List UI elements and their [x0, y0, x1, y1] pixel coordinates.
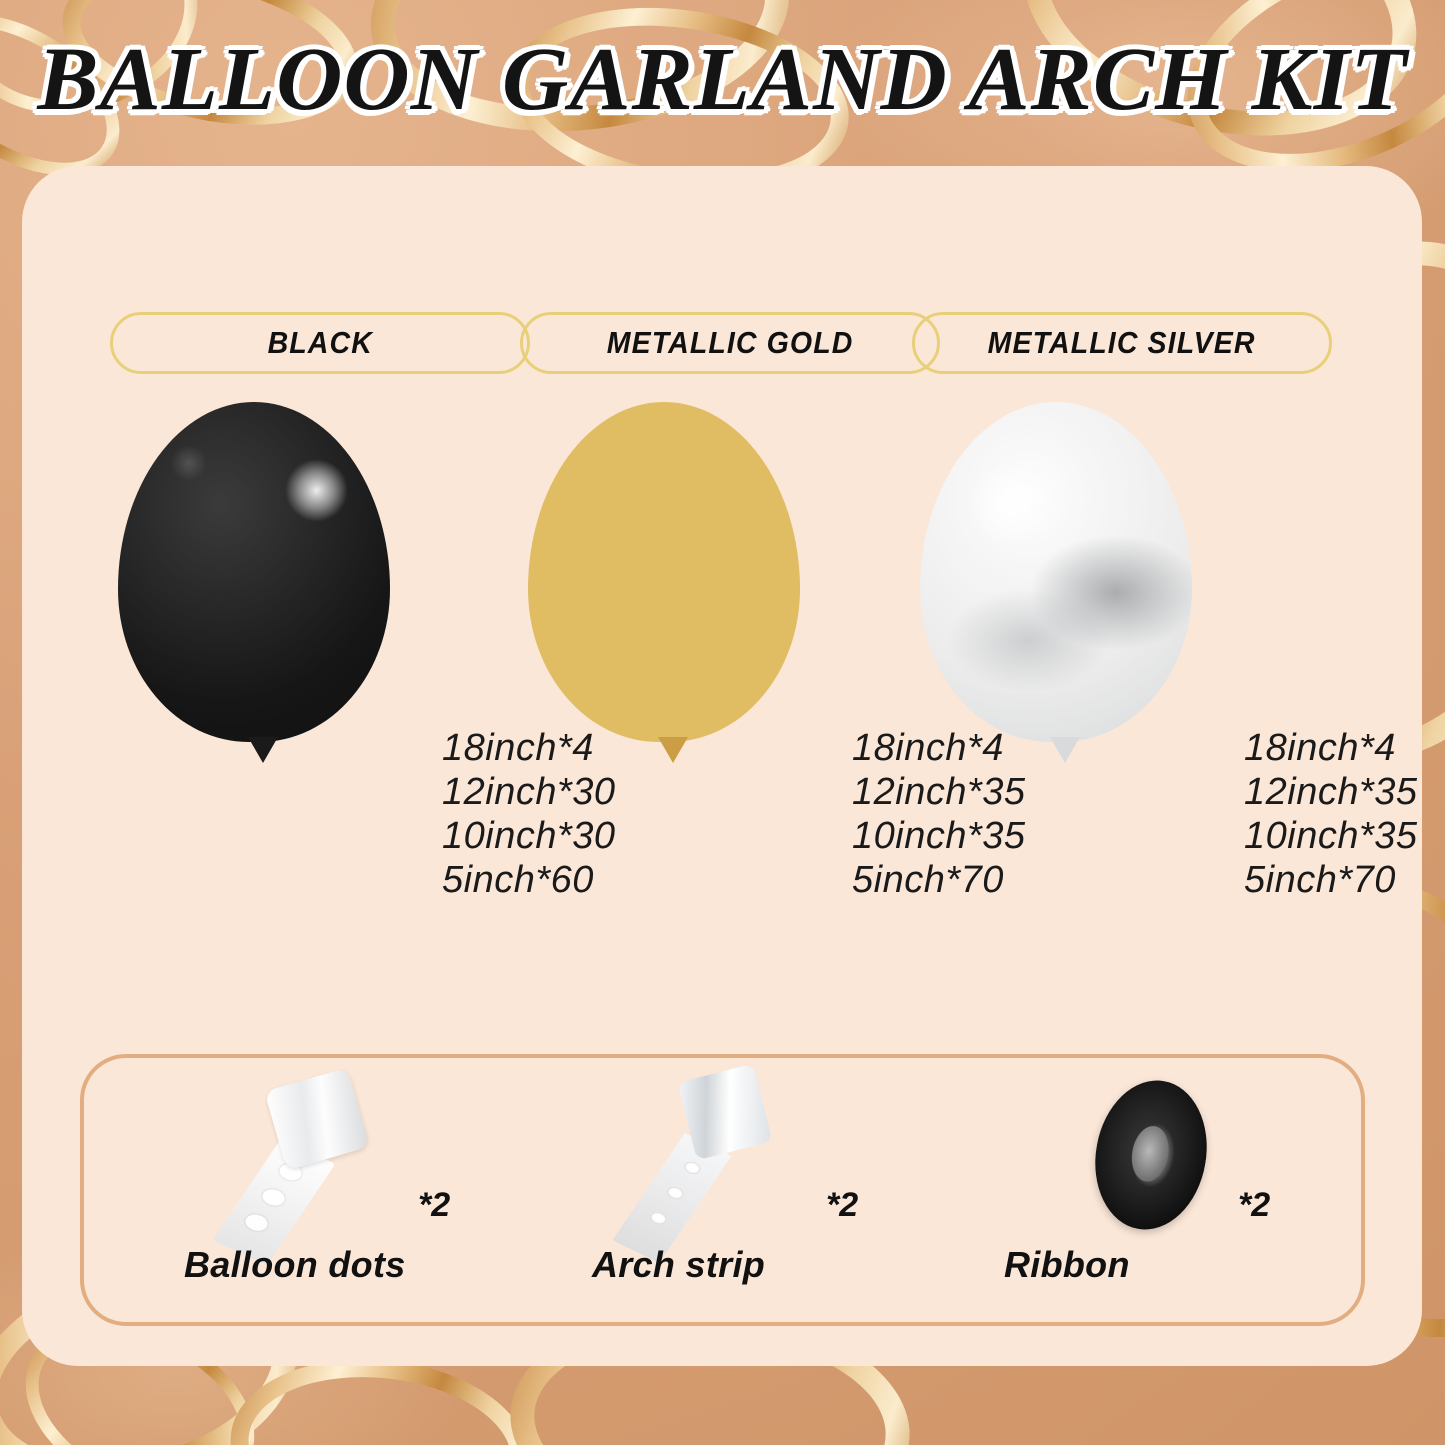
- color-column-metallic-silver: METALLIC SILVER 18inch*4 12inch*35 10inc…: [912, 166, 1332, 1066]
- color-column-metallic-gold: METALLIC GOLD 18inch*4 12inch*35 10inch*…: [520, 166, 940, 1066]
- accessory-label: Arch strip: [592, 1244, 932, 1286]
- ribbon-spool-body: [1084, 1072, 1218, 1239]
- color-label-black-text: BLACK: [267, 325, 372, 361]
- accessory-qty: *2: [1238, 1186, 1270, 1225]
- color-columns: BLACK 18inch*4 12inch*30 10inch*30 5inch…: [22, 166, 1422, 1066]
- arch-tape-strip-icon: [644, 1072, 824, 1247]
- balloon-black-knot: [248, 737, 278, 763]
- accessory-label: Balloon dots: [184, 1244, 524, 1286]
- accessory-arch-strip: *2 Arch strip: [584, 1058, 1004, 1330]
- quantity-item: 18inch*4: [1244, 726, 1418, 770]
- product-infographic: BALLOON GARLAND ARCH KIT BLACK 18inch*4 …: [0, 0, 1445, 1445]
- quantity-list-metallic-silver: 18inch*4 12inch*35 10inch*35 5inch*70: [1244, 726, 1418, 902]
- color-label-metallic-gold[interactable]: METALLIC GOLD: [520, 312, 940, 374]
- accessory-balloon-dots: *2 Balloon dots: [176, 1058, 596, 1330]
- glue-dots-roll-icon: [236, 1072, 416, 1247]
- accessory-ribbon: *2 Ribbon: [996, 1058, 1416, 1330]
- balloon-metallic-silver-knot: [1050, 737, 1080, 763]
- color-column-black: BLACK 18inch*4 12inch*30 10inch*30 5inch…: [110, 166, 530, 1066]
- balloon-metallic-silver-body: [920, 402, 1192, 742]
- color-label-metallic-silver[interactable]: METALLIC SILVER: [912, 312, 1332, 374]
- balloon-metallic-gold-knot: [658, 737, 688, 763]
- quantity-item: 5inch*70: [1244, 858, 1418, 902]
- ribbon-spool-icon: [1056, 1072, 1236, 1247]
- accessory-qty: *2: [418, 1186, 450, 1225]
- accessory-label: Ribbon: [1004, 1244, 1344, 1286]
- quantity-item: 10inch*35: [1244, 814, 1418, 858]
- color-label-black[interactable]: BLACK: [110, 312, 530, 374]
- accessories-box: *2 Balloon dots *2 Arch strip: [80, 1054, 1365, 1326]
- balloon-metallic-gold-body: [528, 402, 800, 742]
- color-label-metallic-silver-text: METALLIC SILVER: [988, 325, 1256, 361]
- balloon-black-body: [118, 402, 390, 742]
- ribbon-spool-core: [1128, 1123, 1173, 1184]
- accessory-qty: *2: [826, 1186, 858, 1225]
- balloon-metallic-gold: [528, 402, 818, 792]
- main-card: BLACK 18inch*4 12inch*30 10inch*30 5inch…: [22, 166, 1422, 1366]
- page-title: BALLOON GARLAND ARCH KIT: [0, 28, 1445, 131]
- color-label-metallic-gold-text: METALLIC GOLD: [607, 325, 854, 361]
- quantity-item: 12inch*35: [1244, 770, 1418, 814]
- balloon-metallic-silver: [920, 402, 1210, 792]
- balloon-black: [118, 402, 408, 792]
